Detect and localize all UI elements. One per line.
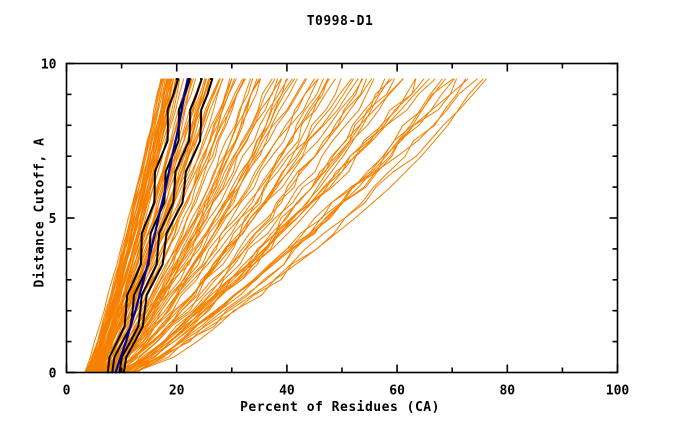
x-tick-label: 40 bbox=[279, 384, 295, 399]
chart-canvas: T0998-D1 0204060801000510 Percent of Res… bbox=[0, 0, 680, 440]
x-axis-label: Percent of Residues (CA) bbox=[0, 400, 680, 415]
x-tick-label: 60 bbox=[389, 384, 405, 399]
y-tick-label: 5 bbox=[49, 212, 57, 227]
y-tick-label: 0 bbox=[49, 367, 57, 382]
data-curves-group bbox=[85, 79, 487, 373]
x-tick-label: 0 bbox=[63, 384, 71, 399]
y-tick-label: 10 bbox=[41, 58, 57, 73]
y-axis-label: Distance Cutoff, A bbox=[33, 93, 48, 333]
x-tick-label: 20 bbox=[169, 384, 185, 399]
plot-svg: 0204060801000510 bbox=[0, 0, 680, 440]
x-tick-label: 80 bbox=[499, 384, 515, 399]
x-tick-label: 100 bbox=[606, 384, 630, 399]
